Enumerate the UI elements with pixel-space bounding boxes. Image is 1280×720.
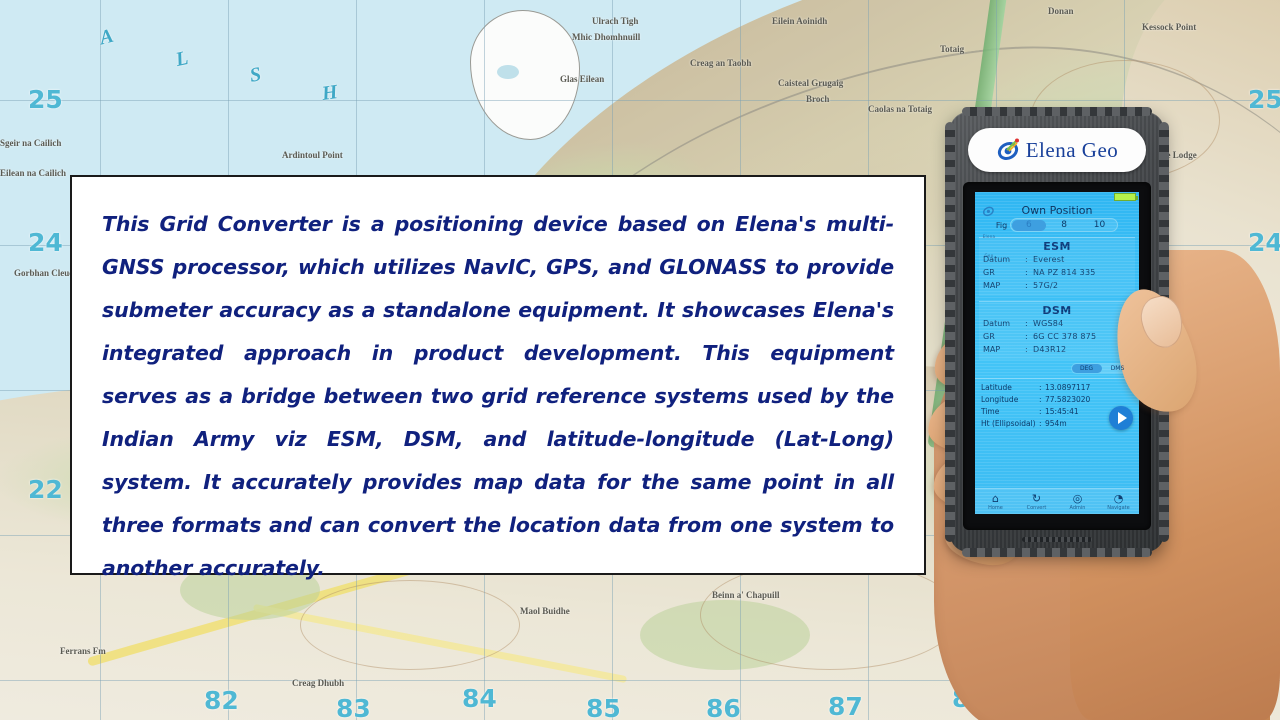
- grid-number-bottom: 86: [706, 694, 741, 720]
- nav-item-home[interactable]: ⌂ Home: [975, 493, 1016, 511]
- esm-map-key: MAP: [983, 279, 1025, 292]
- compass-icon: ◔: [1098, 493, 1139, 505]
- time-key: Time: [981, 406, 1039, 418]
- coord-row-latitude: Latitude : 13.0897117: [981, 382, 1133, 394]
- nav-label-admin: Admin: [1057, 505, 1098, 511]
- esm-heading: ESM: [983, 240, 1131, 253]
- fig-option-8[interactable]: 8: [1046, 220, 1081, 230]
- map-place-label: Mhic Dhomhnuill: [572, 32, 640, 42]
- screen-navbar: ⌂ Home ↻ Convert ◎ Admin ◔ Navigate: [975, 488, 1139, 514]
- map-place-label: Ulrach Tigh: [592, 16, 638, 26]
- format-option-dms[interactable]: DMS: [1102, 365, 1133, 372]
- coordinates-panel: Latitude : 13.0897117 Longitude : 77.582…: [975, 378, 1139, 432]
- screen-title: Own Position: [975, 204, 1139, 217]
- esm-gr-value: NA PZ 814 335: [1033, 266, 1131, 279]
- nav-item-convert[interactable]: ↻ Convert: [1016, 493, 1057, 511]
- contour-line: [300, 580, 520, 670]
- esm-row-gr: GR : NA PZ 814 335: [983, 266, 1131, 279]
- brand-logo-pill: Elena Geo: [968, 128, 1146, 172]
- grid-number-bottom: 87: [828, 692, 863, 720]
- description-callout-box: This Grid Converter is a positioning dev…: [70, 175, 926, 575]
- grid-number-bottom: 82: [204, 686, 239, 715]
- bumper-ridges-left: [945, 122, 955, 542]
- dsm-map-value: D43R12: [1033, 343, 1131, 356]
- latitude-value: 13.0897117: [1045, 382, 1090, 394]
- refresh-icon: ↻: [1016, 493, 1057, 505]
- location-pin-icon: ◎: [1057, 493, 1098, 505]
- grid-number-bottom: 85: [586, 694, 621, 720]
- map-place-label: Eilean na Cailich: [0, 168, 66, 178]
- dsm-datum-value: WGS84: [1033, 317, 1131, 330]
- esm-panel: ESM Datum : Everest GR : NA PZ 814 335 M…: [979, 237, 1135, 296]
- dsm-row-map: MAP : D43R12: [983, 343, 1131, 356]
- longitude-value: 77.5823020: [1045, 394, 1090, 406]
- map-place-label: Eilein Aoinidh: [772, 16, 827, 26]
- grid-number-bottom: 84: [462, 684, 497, 713]
- elena-watermark-label: Elena Geo: [983, 234, 996, 258]
- nav-label-convert: Convert: [1016, 505, 1057, 511]
- sea-letter: H: [320, 81, 339, 106]
- map-place-label: Broch: [806, 94, 829, 104]
- map-place-label: Gorbhan Cleuch: [14, 268, 78, 278]
- screen-statusbar: [975, 192, 1139, 202]
- dsm-datum-sep: :: [1025, 317, 1033, 330]
- time-value: 15:45:41: [1045, 406, 1079, 418]
- dsm-datum-key: Datum: [983, 317, 1025, 330]
- map-place-label: Beinn a' Chapuill: [712, 590, 780, 600]
- latitude-key: Latitude: [981, 382, 1039, 394]
- esm-map-sep: :: [1025, 279, 1033, 292]
- coord-row-longitude: Longitude : 77.5823020: [981, 394, 1133, 406]
- nav-item-admin[interactable]: ◎ Admin: [1057, 493, 1098, 511]
- play-next-button[interactable]: [1109, 406, 1133, 430]
- fig-option-10[interactable]: 10: [1082, 220, 1117, 230]
- battery-icon: [1114, 193, 1136, 201]
- esm-row-datum: Datum : Everest: [983, 253, 1131, 266]
- map-place-label: Sgeir na Cailich: [0, 138, 61, 148]
- dsm-row-datum: Datum : WGS84: [983, 317, 1131, 330]
- grid-number-bottom: 83: [336, 694, 371, 720]
- esm-datum-value: Everest: [1033, 253, 1131, 266]
- nav-label-navigate: Navigate: [1098, 505, 1139, 511]
- bumper-ridges-bottom: [962, 548, 1152, 557]
- map-place-label: Glas Eilean: [560, 74, 604, 84]
- esm-row-map: MAP : 57G/2: [983, 279, 1131, 292]
- height-key: Ht (Ellipsoidal): [981, 418, 1039, 430]
- device-screen[interactable]: Elena Geo Own Position Fig 6 8 10 ESM: [975, 192, 1139, 514]
- map-place-label: Caisteal Grugaig: [778, 78, 843, 88]
- map-place-label: Ardintoul Point: [282, 150, 343, 160]
- dsm-panel: DSM Datum : WGS84 GR : 6G CC 378 875 MAP…: [979, 301, 1135, 360]
- coordinate-format-toggle[interactable]: DEG DMS: [975, 363, 1133, 374]
- brand-name: Elena Geo: [1026, 138, 1119, 163]
- nav-label-home: Home: [975, 505, 1016, 511]
- dsm-row-gr: GR : 6G CC 378 875: [983, 330, 1131, 343]
- esm-map-value: 57G/2: [1033, 279, 1131, 292]
- dsm-map-sep: :: [1025, 343, 1033, 356]
- grid-number-left: 25: [28, 85, 63, 114]
- home-icon: ⌂: [975, 493, 1016, 505]
- description-text: This Grid Converter is a positioning dev…: [102, 203, 894, 590]
- dsm-gr-sep: :: [1025, 330, 1033, 343]
- elena-geo-logo-icon: [996, 137, 1022, 163]
- dsm-gr-key: GR: [983, 330, 1025, 343]
- speaker-grille: [1022, 537, 1092, 542]
- device-photo-region: Elena Geo Elena Geo Own Position: [920, 0, 1280, 720]
- dsm-map-key: MAP: [983, 343, 1025, 356]
- map-place-label: Creag an Taobh: [690, 58, 751, 68]
- fig-selector[interactable]: Fig 6 8 10: [975, 218, 1139, 232]
- esm-datum-sep: :: [1025, 253, 1033, 266]
- esm-gr-sep: :: [1025, 266, 1033, 279]
- esm-gr-key: GR: [983, 266, 1025, 279]
- grid-number-left: 24: [28, 228, 63, 257]
- fig-option-6[interactable]: 6: [1011, 220, 1046, 230]
- elena-watermark-icon: Elena Geo: [979, 204, 999, 226]
- grid-number-left: 22: [28, 475, 63, 504]
- map-place-label: Ferrans Fm: [60, 646, 106, 656]
- nav-item-navigate[interactable]: ◔ Navigate: [1098, 493, 1139, 511]
- height-value: 954m: [1045, 418, 1067, 430]
- fig-segment-control[interactable]: 6 8 10: [1010, 218, 1118, 232]
- bumper-ridges-top: [962, 107, 1152, 116]
- longitude-key: Longitude: [981, 394, 1039, 406]
- map-place-label: Maol Buidhe: [520, 606, 570, 616]
- format-option-deg[interactable]: DEG: [1071, 365, 1102, 372]
- dsm-heading: DSM: [983, 304, 1131, 317]
- map-place-label: Creag Dhubh: [292, 678, 344, 688]
